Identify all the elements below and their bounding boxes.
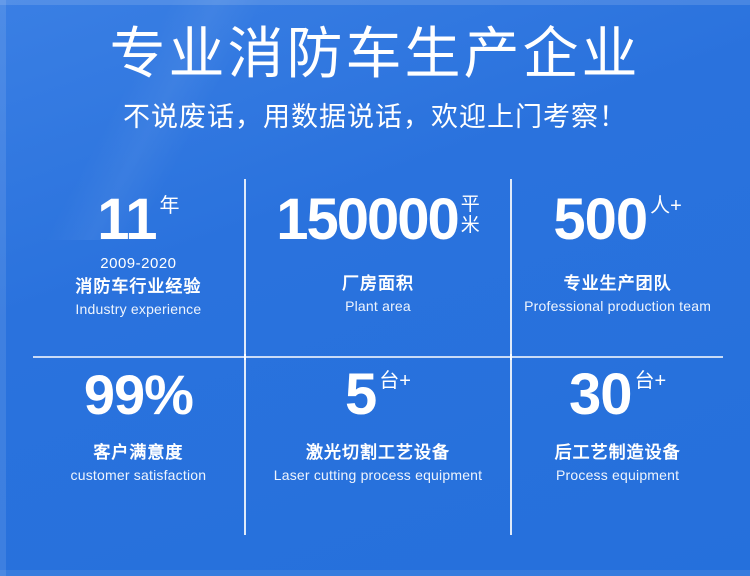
promo-banner: 专业消防车生产企业 不说废话，用数据说话，欢迎上门考察！ 11 年 2009-2… [0, 0, 750, 576]
stat-unit: 台+ [379, 370, 411, 392]
stat-number-line: 11 年 [97, 189, 179, 251]
stat-unit-char-1: 平 [461, 194, 480, 215]
stat-label-cn: 激光切割工艺设备 [306, 442, 450, 464]
stat-unit: 平 米 [461, 194, 480, 236]
banner-header: 专业消防车生产企业 不说废话，用数据说话，欢迎上门考察！ [0, 22, 750, 134]
stat-label-en: Process equipment [556, 466, 679, 484]
stat-label-cn: 客户满意度 [93, 442, 183, 464]
stat-value: 11 [97, 189, 156, 251]
stat-range: 2009-2020 [100, 255, 176, 273]
stats-row-bottom: 99% 客户满意度 customer satisfaction 5 台+ 激光切… [33, 358, 723, 531]
stats-grid: 11 年 2009-2020 消防车行业经验 Industry experien… [33, 183, 723, 545]
stats-row-top: 11 年 2009-2020 消防车行业经验 Industry experien… [33, 183, 723, 356]
stat-label-en: Laser cutting process equipment [274, 466, 483, 484]
top-edge-highlight [0, 0, 750, 5]
stat-label-cn: 专业生产团队 [564, 273, 672, 295]
stat-label-cn: 后工艺制造设备 [555, 442, 681, 464]
stat-label-cn: 消防车行业经验 [75, 276, 201, 298]
stat-cell-customer-satisfaction: 99% 客户满意度 customer satisfaction [33, 358, 244, 531]
stat-number-line: 99% [84, 364, 193, 426]
stat-cell-production-team: 500 人+ 专业生产团队 Professional production te… [512, 183, 723, 356]
stat-value: 5 [345, 364, 376, 426]
stat-value: 500 [553, 189, 647, 251]
stat-value: 150000 [276, 189, 458, 251]
stat-unit: 年 [160, 195, 180, 217]
bottom-edge-highlight [0, 570, 750, 576]
stat-label-cn: 厂房面积 [342, 273, 414, 295]
stat-unit: 人+ [650, 195, 682, 217]
stat-unit-char-2: 米 [461, 215, 480, 236]
stat-number-line: 500 人+ [553, 189, 681, 251]
page-subtitle: 不说废话，用数据说话，欢迎上门考察！ [0, 100, 750, 134]
stat-unit: 台+ [635, 370, 667, 392]
stat-cell-laser-cutting-equipment: 5 台+ 激光切割工艺设备 Laser cutting process equi… [246, 358, 510, 531]
stat-cell-plant-area: 150000 平 米 厂房面积 Plant area [246, 183, 510, 356]
stat-label-en: customer satisfaction [71, 466, 207, 484]
stat-number-line: 150000 平 米 [276, 189, 480, 251]
page-title: 专业消防车生产企业 [0, 22, 750, 86]
stat-label-en: Plant area [345, 297, 411, 315]
stat-cell-industry-experience: 11 年 2009-2020 消防车行业经验 Industry experien… [33, 183, 244, 356]
stat-number-line: 30 台+ [569, 364, 666, 426]
stat-value: 30 [569, 364, 632, 426]
stat-label-en: Industry experience [75, 300, 201, 318]
stat-value: 99% [84, 364, 193, 426]
stat-cell-process-equipment: 30 台+ 后工艺制造设备 Process equipment [512, 358, 723, 531]
stat-label-en: Professional production team [524, 297, 711, 315]
stat-number-line: 5 台+ [345, 364, 411, 426]
